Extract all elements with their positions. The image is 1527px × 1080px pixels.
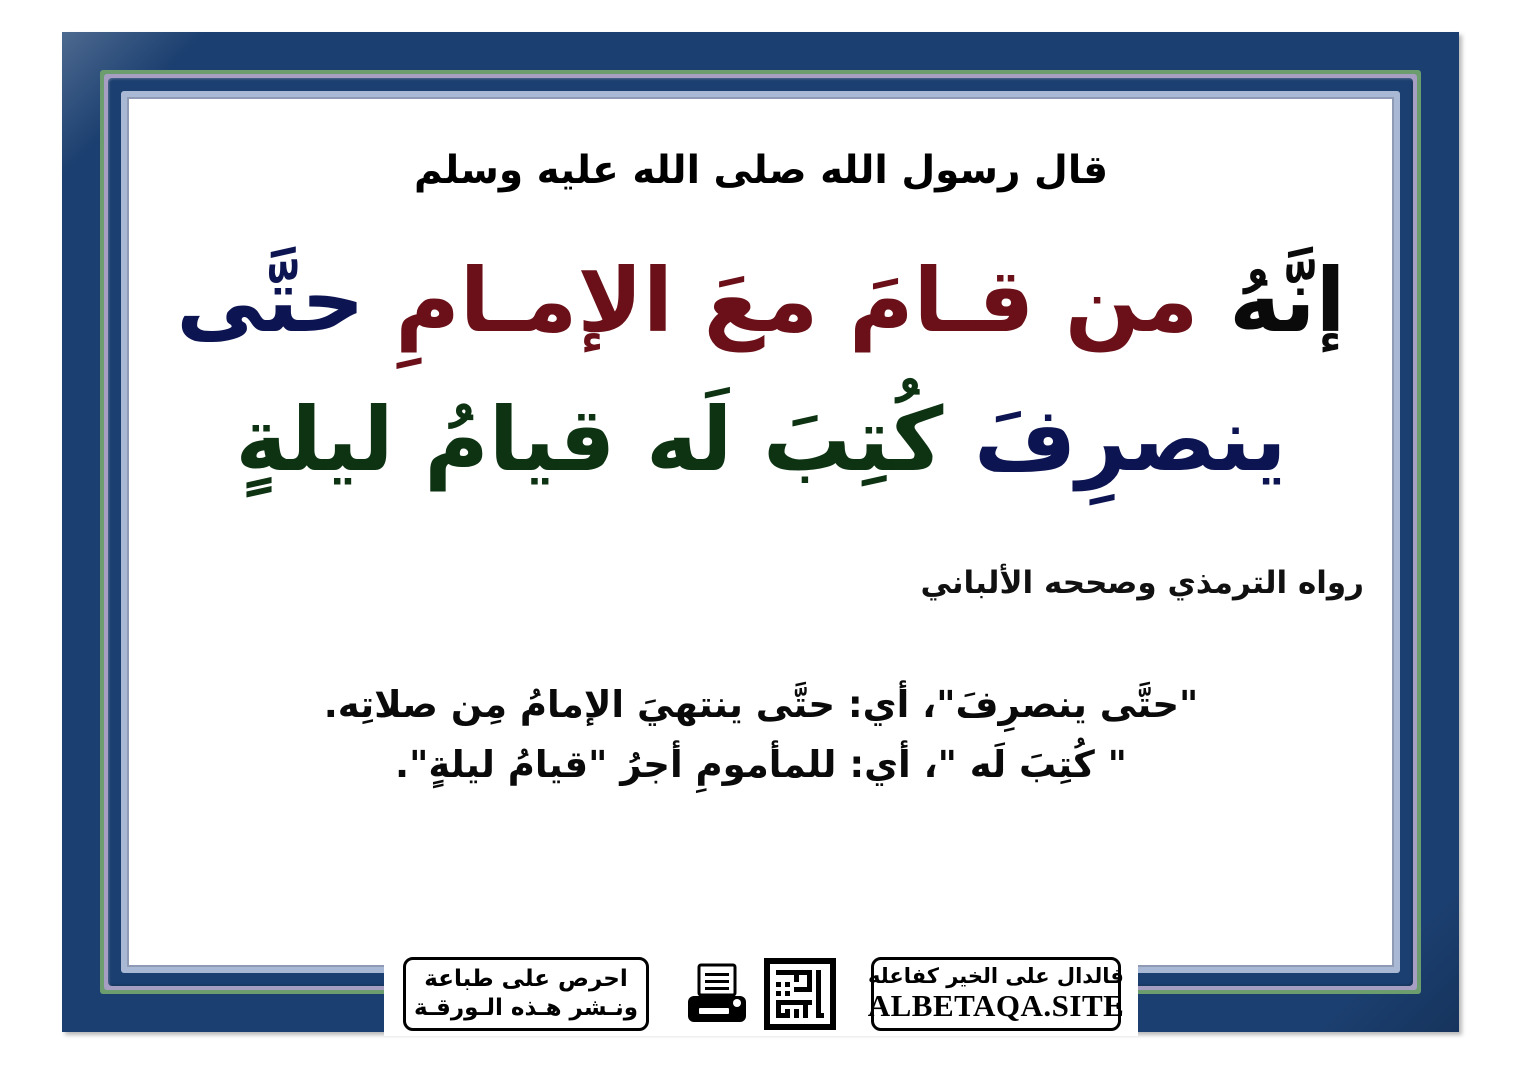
explanation-line-1: "حتَّى ينصرِفَ"، أي: حتَّى ينتهيَ الإمام… xyxy=(130,675,1392,735)
print-call-line-2: ونـشر هـذه الـورقـة xyxy=(414,995,638,1021)
hadith-intro: قال رسول الله صلى الله عليه وسلم xyxy=(130,148,1392,195)
print-call-box: احرص على طباعة ونـشر هـذه الـورقـة xyxy=(403,957,649,1031)
hadith-seg-yansarif: ينصرِفَ xyxy=(974,388,1287,491)
print-call-line-1: احرص على طباعة xyxy=(424,966,627,992)
site-url[interactable]: ALBETAQA.SITE xyxy=(868,989,1125,1023)
explanation-line-2: " كُتِبَ لَه "، أي: للمأمومِ أجرُ "قيامُ… xyxy=(130,735,1392,795)
footer-bar: احرص على طباعة ونـشر هـذه الـورقـة xyxy=(398,957,1126,1031)
hadith-line-2: ينصرِفَ كُتِبَ لَه قيامُ ليلةٍ xyxy=(130,370,1392,509)
site-slogan: فالدال على الخير كفاعله xyxy=(868,965,1125,988)
hadith-seg-kutiba: كُتِبَ لَه قيامُ ليلةٍ xyxy=(235,388,943,491)
hadith-narrator: رواه الترمذي وصححه الألباني xyxy=(130,565,1392,601)
print-call-text: احرص على طباعة ونـشر هـذه الـورقـة xyxy=(414,965,638,1023)
hadith-seg-man-qama: من قـامَ معَ الإمـامِ xyxy=(395,249,1198,352)
site-brand-text: فالدال على الخير كفاعله ALBETAQA.SITE xyxy=(868,965,1125,1022)
footer-logos xyxy=(649,957,871,1031)
poster-page: قال رسول الله صلى الله عليه وسلم إنَّهُ … xyxy=(0,0,1527,1080)
site-brand-box[interactable]: فالدال على الخير كفاعله ALBETAQA.SITE xyxy=(871,957,1121,1031)
hadith-body: إنَّهُ من قـامَ معَ الإمـامِ حتَّى ينصرِ… xyxy=(130,231,1392,509)
printer-icon xyxy=(684,961,750,1027)
hadith-line-1: إنَّهُ من قـامَ معَ الإمـامِ حتَّى xyxy=(130,231,1392,370)
card-content: قال رسول الله صلى الله عليه وسلم إنَّهُ … xyxy=(130,96,1392,936)
hadith-seg-hatta: حتَّى xyxy=(176,249,364,352)
hadith-seg-innahu: إنَّهُ xyxy=(1229,249,1346,352)
hadith-explanation: "حتَّى ينصرِفَ"، أي: حتَّى ينتهيَ الإمام… xyxy=(130,675,1392,795)
albetaqa-kufic-logo-icon xyxy=(764,958,836,1030)
